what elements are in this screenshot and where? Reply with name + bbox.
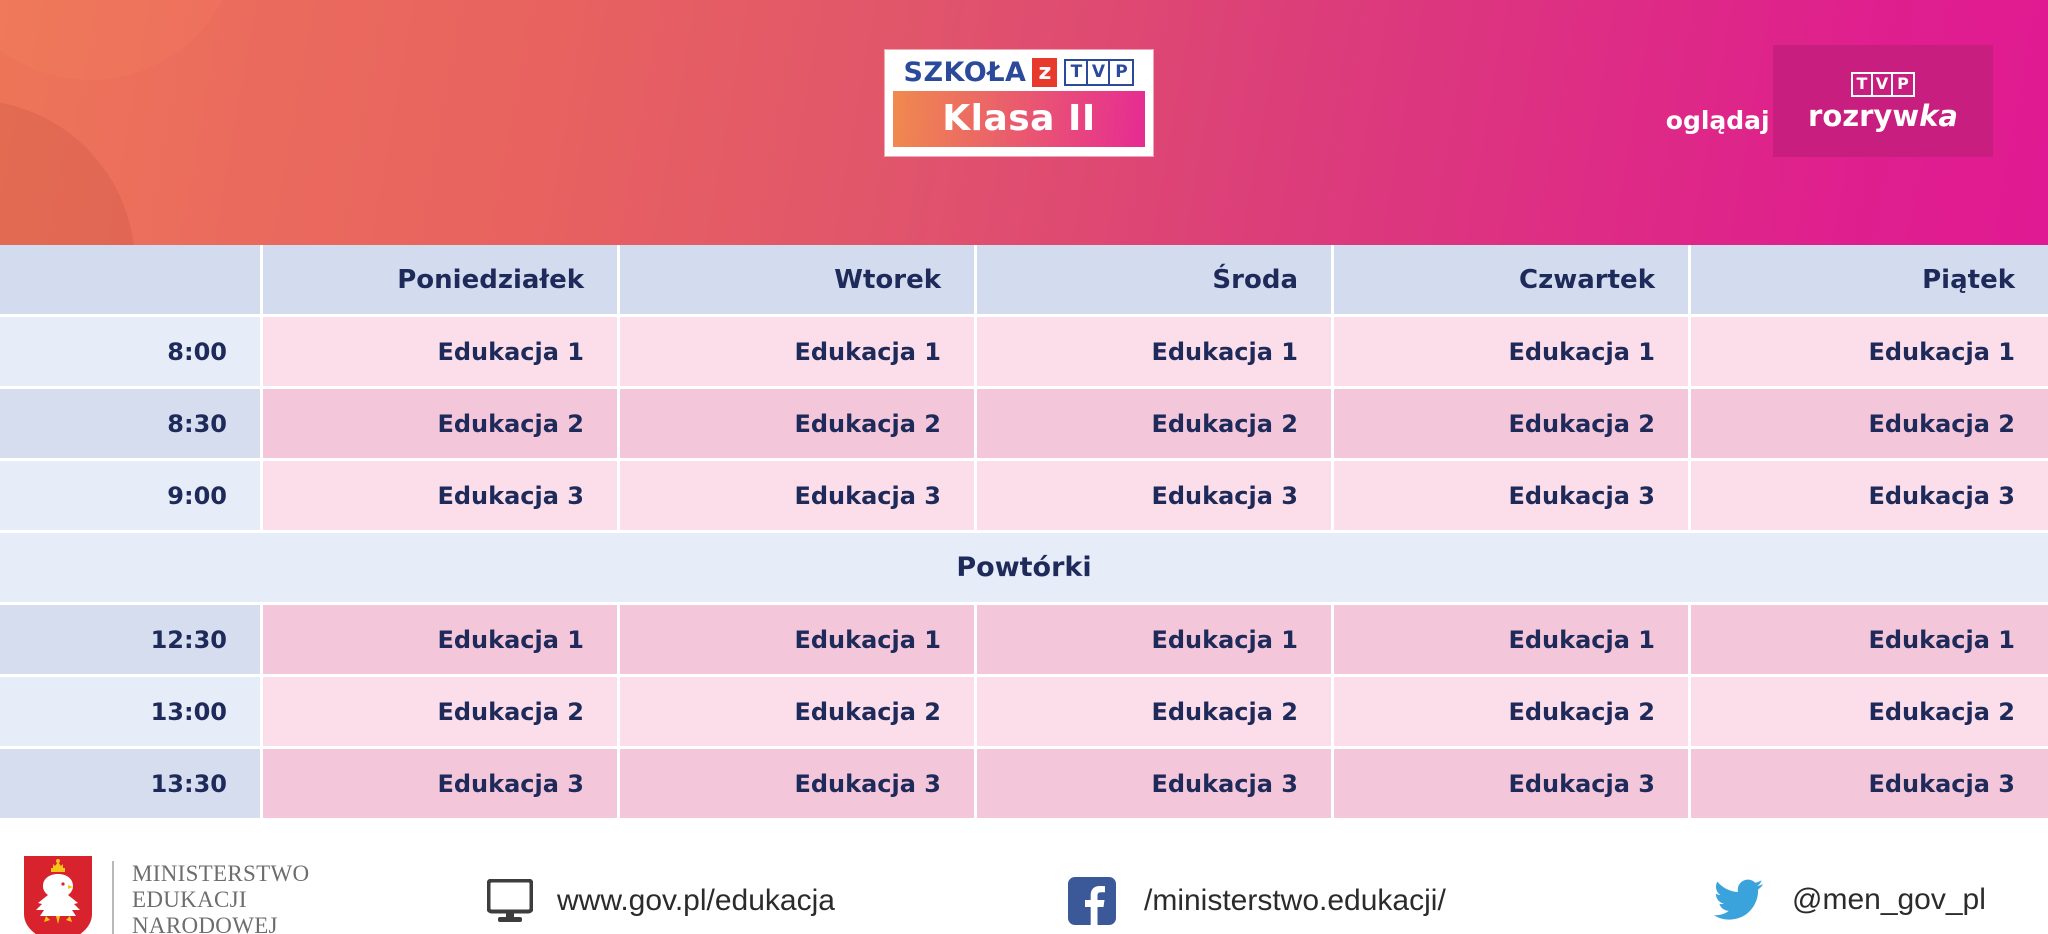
lesson-cell: Edukacja 1 (263, 317, 620, 389)
header-corner-cell (0, 245, 263, 317)
schedule-poster: SZKOŁA z T V P Klasa II oglądaj na T V P… (0, 0, 2048, 934)
lesson-cell: Edukacja 1 (1334, 605, 1691, 677)
lesson-cell: Edukacja 1 (977, 605, 1334, 677)
ministry-line-3: NARODOWEJ (132, 913, 309, 934)
rozrywka-part2: ka (1919, 99, 1958, 133)
ministry-line-1: MINISTERSTWO (132, 861, 309, 887)
lesson-cell: Edukacja 1 (1334, 317, 1691, 389)
table-row: 8:30 Edukacja 2 Edukacja 2 Edukacja 2 Ed… (0, 389, 2048, 461)
column-header-thursday: Czwartek (1334, 245, 1691, 317)
column-header-monday: Poniedziałek (263, 245, 620, 317)
lesson-cell: Edukacja 2 (1691, 389, 2048, 461)
lesson-cell: Edukacja 1 (620, 605, 977, 677)
lesson-cell: Edukacja 3 (263, 749, 620, 821)
ministry-name: MINISTERSTWO EDUKACJI NARODOWEJ (112, 861, 309, 934)
lesson-cell: Edukacja 2 (263, 389, 620, 461)
lesson-cell: Edukacja 2 (620, 389, 977, 461)
lesson-cell: Edukacja 3 (620, 461, 977, 533)
table-row: 13:00 Edukacja 2 Edukacja 2 Edukacja 2 E… (0, 677, 2048, 749)
roz-letter-v: V (1873, 74, 1893, 95)
lesson-cell: Edukacja 3 (1334, 461, 1691, 533)
lesson-cell: Edukacja 1 (1691, 605, 2048, 677)
poster-header: SZKOŁA z T V P Klasa II oglądaj na T V P… (0, 0, 2048, 245)
lesson-cell: Edukacja 1 (1691, 317, 2048, 389)
row-time: 13:00 (0, 677, 263, 749)
lesson-cell: Edukacja 3 (977, 749, 1334, 821)
column-header-wednesday: Środa (977, 245, 1334, 317)
monitor-icon (487, 879, 533, 923)
roz-letter-p: P (1893, 74, 1913, 95)
poster-footer: MINISTERSTWO EDUKACJI NARODOWEJ www.gov.… (0, 886, 2048, 934)
twitter-icon (1714, 879, 1764, 921)
header-decoration-circle (0, 100, 135, 245)
lesson-cell: Edukacja 3 (977, 461, 1334, 533)
repeats-banner-row: Powtórki (0, 533, 2048, 605)
row-time: 8:00 (0, 317, 263, 389)
facebook-icon (1068, 877, 1116, 925)
table-header-row: Poniedziałek Wtorek Środa Czwartek Piąte… (0, 245, 2048, 317)
table-row: 9:00 Edukacja 3 Edukacja 3 Edukacja 3 Ed… (0, 461, 2048, 533)
header-decoration-circle-2 (0, 0, 240, 80)
lesson-cell: Edukacja 3 (263, 461, 620, 533)
website-url: www.gov.pl/edukacja (557, 884, 835, 918)
rozrywka-part1: rozryw (1808, 99, 1919, 133)
rozrywka-wordmark: rozrywka (1808, 102, 1958, 131)
row-time: 12:30 (0, 605, 263, 677)
logo-brand-word: SZKOŁA (904, 59, 1027, 86)
lesson-cell: Edukacja 2 (977, 677, 1334, 749)
twitter-handle: @men_gov_pl (1792, 883, 1986, 917)
tvp-rozrywka-logo: T V P rozrywka (1773, 45, 1993, 157)
tvp-letter-v: V (1088, 61, 1110, 84)
lesson-cell: Edukacja 1 (620, 317, 977, 389)
szkola-z-tvp-logo: SZKOŁA z T V P Klasa II (885, 50, 1153, 156)
row-time: 8:30 (0, 389, 263, 461)
lesson-cell: Edukacja 3 (1691, 749, 2048, 821)
tvp-letter-p: P (1110, 61, 1132, 84)
tvp-rozrywka-tvp-icon: T V P (1851, 72, 1915, 97)
logo-connector-z: z (1032, 58, 1057, 87)
column-header-friday: Piątek (1691, 245, 2048, 317)
lesson-cell: Edukacja 1 (977, 317, 1334, 389)
row-time: 13:30 (0, 749, 263, 821)
class-title: Klasa II (942, 101, 1096, 137)
lesson-cell: Edukacja 3 (1334, 749, 1691, 821)
lesson-cell: Edukacja 2 (1334, 677, 1691, 749)
lesson-cell: Edukacja 2 (1334, 389, 1691, 461)
row-time: 9:00 (0, 461, 263, 533)
lesson-cell: Edukacja 2 (263, 677, 620, 749)
facebook-handle: /ministerstwo.edukacji/ (1144, 884, 1446, 918)
ministry-line-2: EDUKACJI (132, 887, 309, 913)
column-header-tuesday: Wtorek (620, 245, 977, 317)
website-link[interactable]: www.gov.pl/edukacja (487, 879, 835, 923)
twitter-link[interactable]: @men_gov_pl (1714, 879, 1986, 921)
table-row: 12:30 Edukacja 1 Edukacja 1 Edukacja 1 E… (0, 605, 2048, 677)
facebook-link[interactable]: /ministerstwo.edukacji/ (1068, 877, 1446, 925)
lesson-cell: Edukacja 2 (620, 677, 977, 749)
schedule-table: Poniedziałek Wtorek Środa Czwartek Piąte… (0, 245, 2048, 821)
tvp-letter-t: T (1066, 61, 1088, 84)
roz-letter-t: T (1853, 74, 1873, 95)
table-row: 13:30 Edukacja 3 Edukacja 3 Edukacja 3 E… (0, 749, 2048, 821)
lesson-cell: Edukacja 2 (977, 389, 1334, 461)
tvp-logo-icon: T V P (1064, 59, 1134, 86)
lesson-cell: Edukacja 2 (1691, 677, 2048, 749)
lesson-cell: Edukacja 1 (263, 605, 620, 677)
lesson-cell: Edukacja 3 (620, 749, 977, 821)
logo-top-row: SZKOŁA z T V P (893, 57, 1145, 91)
repeats-banner-label: Powtórki (0, 533, 2048, 605)
ministry-logo: MINISTERSTWO EDUKACJI NARODOWEJ (22, 854, 309, 934)
polish-coat-of-arms-icon (22, 854, 94, 934)
lesson-cell: Edukacja 3 (1691, 461, 2048, 533)
logo-class-band: Klasa II (893, 91, 1145, 147)
table-row: 8:00 Edukacja 1 Edukacja 1 Edukacja 1 Ed… (0, 317, 2048, 389)
